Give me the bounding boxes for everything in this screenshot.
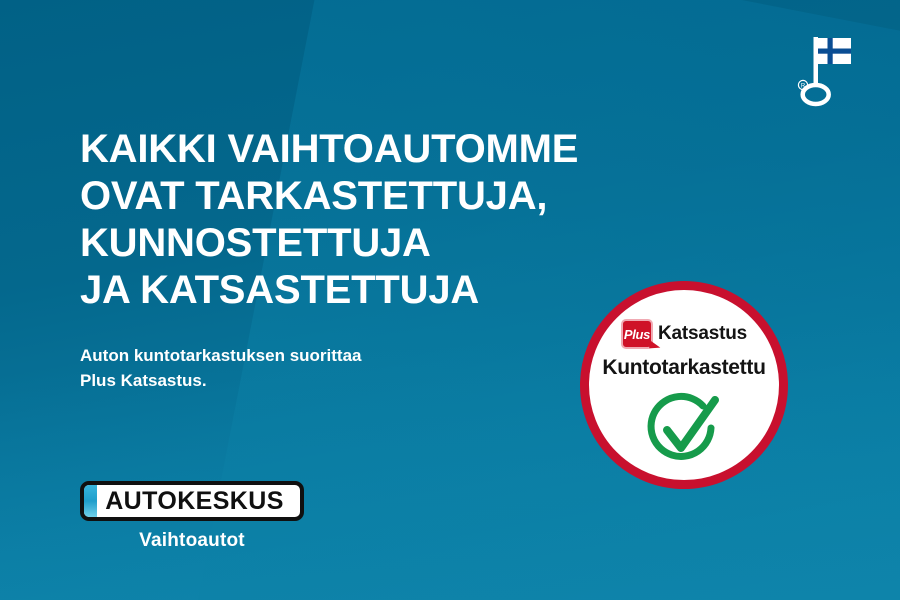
badge-brand-name: Katsastus: [658, 323, 747, 345]
plus-pennant-icon: [649, 339, 661, 349]
headline: KAIKKI VAIHTOAUTOMME OVAT TARKASTETTUJA,…: [80, 126, 680, 314]
headline-line-2: OVAT TARKASTETTUJA,: [80, 173, 680, 220]
autokeskus-logo: AUTOKESKUS Vaihtoautot: [80, 481, 310, 552]
green-check-circle-icon: [640, 390, 728, 473]
badge-brand-row: Plus Katsastus: [589, 319, 779, 349]
headline-line-1: KAIKKI VAIHTOAUTOMME: [80, 126, 680, 173]
subheadline-line-1: Auton kuntotarkastuksen suorittaa: [80, 343, 510, 368]
plus-logo-icon: Plus: [621, 319, 653, 349]
plus-katsastus-badge: Plus Katsastus Kuntotarkastettu: [580, 281, 788, 489]
autokeskus-plate: AUTOKESKUS: [80, 481, 304, 521]
svg-text:R: R: [801, 84, 806, 90]
headline-line-4: JA KATSASTETTUJA: [80, 267, 680, 314]
headline-line-3: KUNNOSTETTUJA: [80, 220, 680, 267]
subheadline-line-2: Plus Katsastus.: [80, 368, 510, 393]
promo-banner: R KAIKKI VAIHTOAUTOMME OVAT TARKASTETTUJ…: [0, 0, 900, 600]
autokeskus-subtitle: Vaihtoautot: [80, 530, 304, 552]
plus-logo-text: Plus: [624, 327, 650, 342]
badge-claim-text: Kuntotarkastettu: [589, 356, 779, 380]
autokeskus-wordmark: AUTOKESKUS: [84, 485, 300, 517]
avainlippu-key-flag-icon: R: [786, 28, 858, 108]
subheadline: Auton kuntotarkastuksen suorittaa Plus K…: [80, 343, 510, 393]
